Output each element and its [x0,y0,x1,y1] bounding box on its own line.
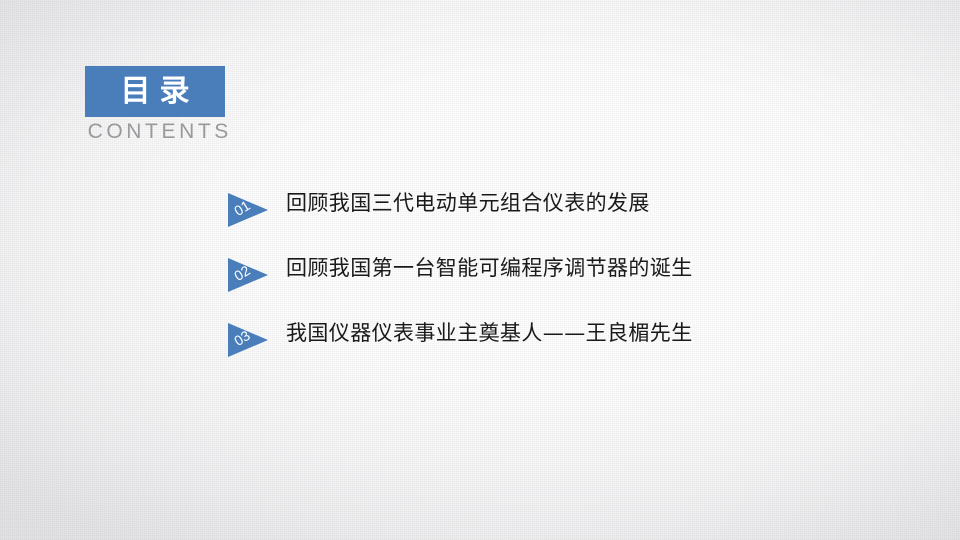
page-title: 目录 [112,77,199,107]
presentation-slide: 目录 CONTENTS 01 回顾我国三代电动单元组合仪表的发展 02 回顾我国… [0,0,960,540]
list-item-label: 回顾我国第一台智能可编程序调节器的诞生 [286,251,693,285]
arrow-marker-icon: 03 [228,323,268,357]
list-item[interactable]: 03 我国仪器仪表事业主奠基人——王良楣先生 [228,316,928,381]
arrow-marker-icon: 01 [228,193,268,227]
list-item-label: 回顾我国三代电动单元组合仪表的发展 [286,186,650,220]
list-item[interactable]: 02 回顾我国第一台智能可编程序调节器的诞生 [228,251,928,316]
arrow-marker-icon: 02 [228,258,268,292]
list-item[interactable]: 01 回顾我国三代电动单元组合仪表的发展 [228,186,928,251]
slide-header: 目录 CONTENTS [85,66,225,143]
contents-list: 01 回顾我国三代电动单元组合仪表的发展 02 回顾我国第一台智能可编程序调节器… [228,186,928,381]
list-item-label: 我国仪器仪表事业主奠基人——王良楣先生 [286,316,693,350]
page-subtitle: CONTENTS [84,121,226,143]
title-box: 目录 [85,66,225,117]
